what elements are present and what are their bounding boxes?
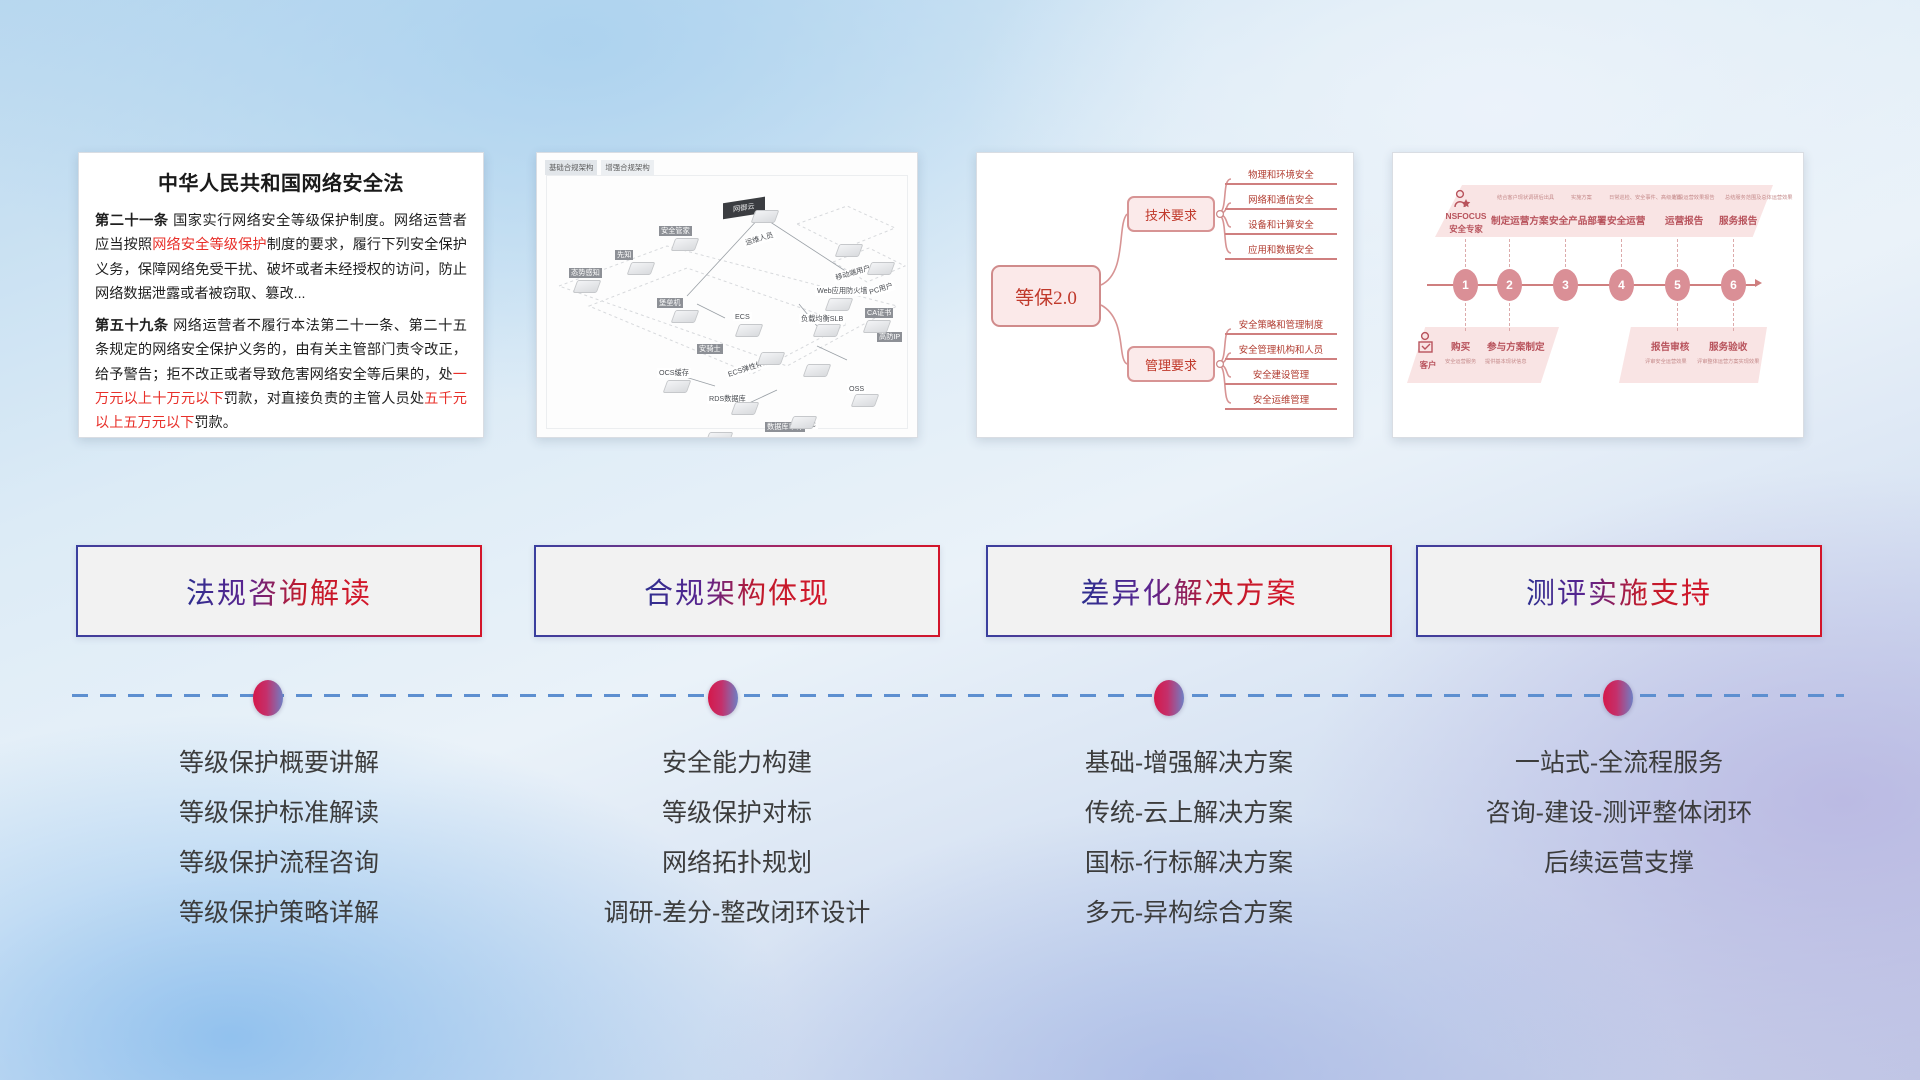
law-article-21: 第二十一条 国家实行网络安全等级保护制度。网络运营者应当按照网络安全等级保护制度… [95, 209, 467, 307]
tab-basic-architecture[interactable]: 基础合规架构 [545, 160, 597, 175]
timeline-sub-3: 实施方案 [1571, 194, 1592, 201]
card-service-timeline[interactable]: NSFOCUS 安全专家 结合客户现状调研后出具 实施方案 日常巡检、安全事件、… [1392, 152, 1804, 438]
server-icon [825, 298, 854, 311]
mindmap-root-node[interactable]: 等保2.0 [991, 265, 1101, 327]
timeline-step-dot-3[interactable]: 3 [1553, 269, 1578, 301]
preview-cards-row: 中华人民共和国网络安全法 第二十一条 国家实行网络安全等级保护制度。网络运营者应… [0, 0, 1920, 460]
timeline-sub-4: 日常巡检、安全事件、高级处置 [1609, 194, 1682, 201]
list-item: 国标-行标解决方案 [986, 838, 1392, 888]
architecture-canvas: 网御云 安全管家 先知 态势感知 堡垒机 安骑士 OCS缓存 RDS数据库 数据… [546, 175, 908, 429]
timeline-connector-6 [1733, 239, 1734, 267]
list-item: 安全能力构建 [534, 738, 940, 788]
arch-node-ca-cert: CA证书 [865, 308, 893, 318]
customer-person-icon [1417, 331, 1439, 357]
rail-node-2[interactable] [708, 680, 738, 716]
server-icon [705, 432, 734, 438]
headline-label-1: 法规咨询解读 [186, 570, 372, 612]
arch-node-ocs-cache: OCS缓存 [657, 368, 691, 378]
arch-node-ecs: ECS [733, 312, 752, 321]
timeline-band-customer-right [1619, 327, 1767, 383]
article-59-label: 第五十九条 [95, 318, 169, 334]
timeline-connector-3 [1565, 239, 1566, 267]
list-item: 调研-差分-整改闭环设计 [534, 888, 940, 938]
list-item: 多元-异构综合方案 [986, 888, 1392, 938]
timeline-connector-1 [1465, 239, 1466, 267]
law-text-body: 中华人民共和国网络安全法 第二十一条 国家实行网络安全等级保护制度。网络运营者应… [79, 153, 483, 438]
timeline-arrowhead [1755, 279, 1762, 287]
article-59-text-c: 罚款。 [194, 415, 237, 431]
arch-node-slb: 负载均衡SLB [799, 314, 845, 324]
headline-box-1[interactable]: 法规咨询解读 [76, 545, 482, 637]
server-icon [731, 402, 760, 415]
timeline-bottom-title-3: 报告审核 [1651, 339, 1689, 353]
timeline-title-5: 运营报告 [1665, 213, 1703, 227]
timeline-rail [72, 694, 1844, 697]
user-icon [867, 262, 896, 275]
expert-person-icon [1451, 189, 1473, 211]
mindmap-branch-technical[interactable]: 技术要求 [1127, 196, 1215, 232]
timeline-role-expert-line2: 安全专家 [1437, 223, 1495, 235]
timeline-title-3: 安全产品部署 [1549, 213, 1607, 227]
server-icon [671, 238, 700, 251]
server-icon [757, 352, 786, 365]
rail-node-3[interactable] [1154, 680, 1184, 716]
law-article-59: 第五十九条 网络运营者不履行本法第二十一条、第二十五条规定的网络安全保护义务的，… [95, 314, 467, 436]
arch-node-waf: Web应用防火墙 [815, 286, 870, 296]
rail-node-1[interactable] [253, 680, 283, 716]
mindmap-leaf-tech-3: 设备和计算安全 [1225, 217, 1337, 235]
article-21-label: 第二十一条 [95, 213, 169, 229]
server-icon [627, 262, 656, 275]
arch-node-bastion-host: 堡垒机 [657, 298, 683, 308]
server-icon [663, 380, 692, 393]
server-icon [863, 320, 892, 333]
collapse-dot-mgmt [1217, 361, 1224, 368]
server-icon [803, 364, 832, 377]
headline-box-4[interactable]: 测评实施支持 [1416, 545, 1822, 637]
timeline-bottom-sub-1: 安全运营服务 [1445, 358, 1476, 365]
arch-node-oss: OSS [847, 384, 866, 393]
timeline-sub-5: 阶段运营效果报告 [1673, 194, 1715, 201]
timeline-step-dot-5[interactable]: 5 [1665, 269, 1690, 301]
article-59-text-b: 罚款，对直接负责的主管人员处 [224, 391, 424, 407]
server-icon [851, 394, 880, 407]
timeline-connector-b1 [1465, 303, 1466, 331]
bullet-column-4: 一站式-全流程服务 咨询-建设-测评整体闭环 后续运营支撑 [1416, 738, 1822, 888]
list-item: 一站式-全流程服务 [1416, 738, 1822, 788]
list-item: 等级保护概要讲解 [76, 738, 482, 788]
timeline-connector-b2 [1509, 303, 1510, 331]
timeline-connector-2 [1509, 239, 1510, 267]
arch-node-security-butler: 安全管家 [659, 226, 692, 236]
timeline-sub-6: 总结服务范围及总体运营效果 [1725, 194, 1792, 201]
arch-node-situational-awareness: 态势感知 [569, 268, 602, 278]
arch-node-xianzhi: 先知 [615, 250, 633, 260]
headline-box-3[interactable]: 差异化解决方案 [986, 545, 1392, 637]
mindmap-leaf-tech-1: 物理和环境安全 [1225, 167, 1337, 185]
card-dengbao-mindmap[interactable]: 等保2.0 技术要求 管理要求 物理和环境安全 网络和通信安全 设备和计算安全 … [976, 152, 1354, 438]
mindmap-leaf-mgmt-4: 安全运维管理 [1225, 392, 1337, 410]
server-icon [735, 324, 764, 337]
mindmap-leaf-tech-4: 应用和数据安全 [1225, 242, 1337, 260]
timeline-canvas: NSFOCUS 安全专家 结合客户现状调研后出具 实施方案 日常巡检、安全事件、… [1393, 153, 1803, 437]
headline-label-2: 合规架构体现 [644, 570, 830, 612]
timeline-bottom-sub-2: 提供基本现状信息 [1485, 358, 1527, 365]
server-icon [813, 324, 842, 337]
rail-node-4[interactable] [1603, 680, 1633, 716]
timeline-connector-b6 [1733, 303, 1734, 331]
tab-enhanced-architecture[interactable]: 增强合规架构 [601, 160, 653, 175]
mindmap-leaf-mgmt-1: 安全策略和管理制度 [1225, 317, 1337, 335]
list-item: 咨询-建设-测评整体闭环 [1416, 788, 1822, 838]
user-icon [751, 210, 780, 223]
user-icon [835, 244, 864, 257]
timeline-connector-b5 [1677, 303, 1678, 331]
mindmap-leaf-mgmt-3: 安全建设管理 [1225, 367, 1337, 385]
timeline-bottom-title-2: 参与方案制定 [1487, 339, 1545, 353]
timeline-connector-4 [1621, 239, 1622, 267]
timeline-title-4: 安全运营 [1607, 213, 1645, 227]
law-title: 中华人民共和国网络安全法 [95, 167, 467, 196]
list-item: 等级保护对标 [534, 788, 940, 838]
collapse-dot-tech [1217, 211, 1224, 218]
headline-row: 法规咨询解读 合规架构体现 差异化解决方案 测评实施支持 [0, 545, 1920, 645]
list-item: 基础-增强解决方案 [986, 738, 1392, 788]
server-icon [573, 280, 602, 293]
arch-node-anqishi: 安骑士 [697, 344, 723, 354]
timeline-role-customer: 客户 [1413, 359, 1443, 371]
mindmap-leaf-tech-2: 网络和通信安全 [1225, 192, 1337, 210]
mindmap-branch-management[interactable]: 管理要求 [1127, 346, 1215, 382]
bullet-column-3: 基础-增强解决方案 传统-云上解决方案 国标-行标解决方案 多元-异构综合方案 [986, 738, 1392, 938]
mindmap-canvas: 等保2.0 技术要求 管理要求 物理和环境安全 网络和通信安全 设备和计算安全 … [977, 153, 1353, 437]
timeline-step-dot-1[interactable]: 1 [1453, 269, 1478, 301]
server-icon [789, 416, 818, 429]
headline-label-4: 测评实施支持 [1526, 570, 1712, 612]
headline-label-3: 差异化解决方案 [1080, 570, 1297, 612]
list-item: 等级保护标准解读 [76, 788, 482, 838]
timeline-bottom-sub-3: 评审安全运营效果 [1645, 358, 1687, 365]
timeline-step-dot-4[interactable]: 4 [1609, 269, 1634, 301]
timeline-step-dot-2[interactable]: 2 [1497, 269, 1522, 301]
list-item: 网络拓扑规划 [534, 838, 940, 888]
timeline-sub-2: 结合客户现状调研后出具 [1497, 194, 1554, 201]
list-item: 等级保护流程咨询 [76, 838, 482, 888]
timeline-connector-5 [1677, 239, 1678, 267]
timeline-role-expert-line1: NSFOCUS [1437, 211, 1495, 221]
headline-box-2[interactable]: 合规架构体现 [534, 545, 940, 637]
timeline-title-6: 服务报告 [1719, 213, 1757, 227]
timeline-bottom-title-1: 购买 [1451, 339, 1470, 353]
architecture-diagram: 基础合规架构 增强合规架构 [537, 153, 917, 437]
bullet-column-1: 等级保护概要讲解 等级保护标准解读 等级保护流程咨询 等级保护策略详解 [76, 738, 482, 938]
card-compliance-architecture[interactable]: 基础合规架构 增强合规架构 [536, 152, 918, 438]
mindmap-leaf-mgmt-2: 安全管理机构和人员 [1225, 342, 1337, 360]
list-item: 传统-云上解决方案 [986, 788, 1392, 838]
server-icon [671, 310, 700, 323]
timeline-bottom-title-4: 服务验收 [1709, 339, 1747, 353]
timeline-title-2: 制定运营方案 [1491, 213, 1549, 227]
list-item: 后续运营支撑 [1416, 838, 1822, 888]
article-21-highlight: 网络安全等级保护 [152, 237, 267, 253]
timeline-step-dot-6[interactable]: 6 [1721, 269, 1746, 301]
timeline-bottom-sub-4: 评审整体运营方案实现效果 [1697, 358, 1759, 365]
card-cybersecurity-law[interactable]: 中华人民共和国网络安全法 第二十一条 国家实行网络安全等级保护制度。网络运营者应… [78, 152, 484, 438]
bullet-column-2: 安全能力构建 等级保护对标 网络拓扑规划 调研-差分-整改闭环设计 [534, 738, 940, 938]
architecture-tabs: 基础合规架构 增强合规架构 [545, 160, 654, 175]
list-item: 等级保护策略详解 [76, 888, 482, 938]
